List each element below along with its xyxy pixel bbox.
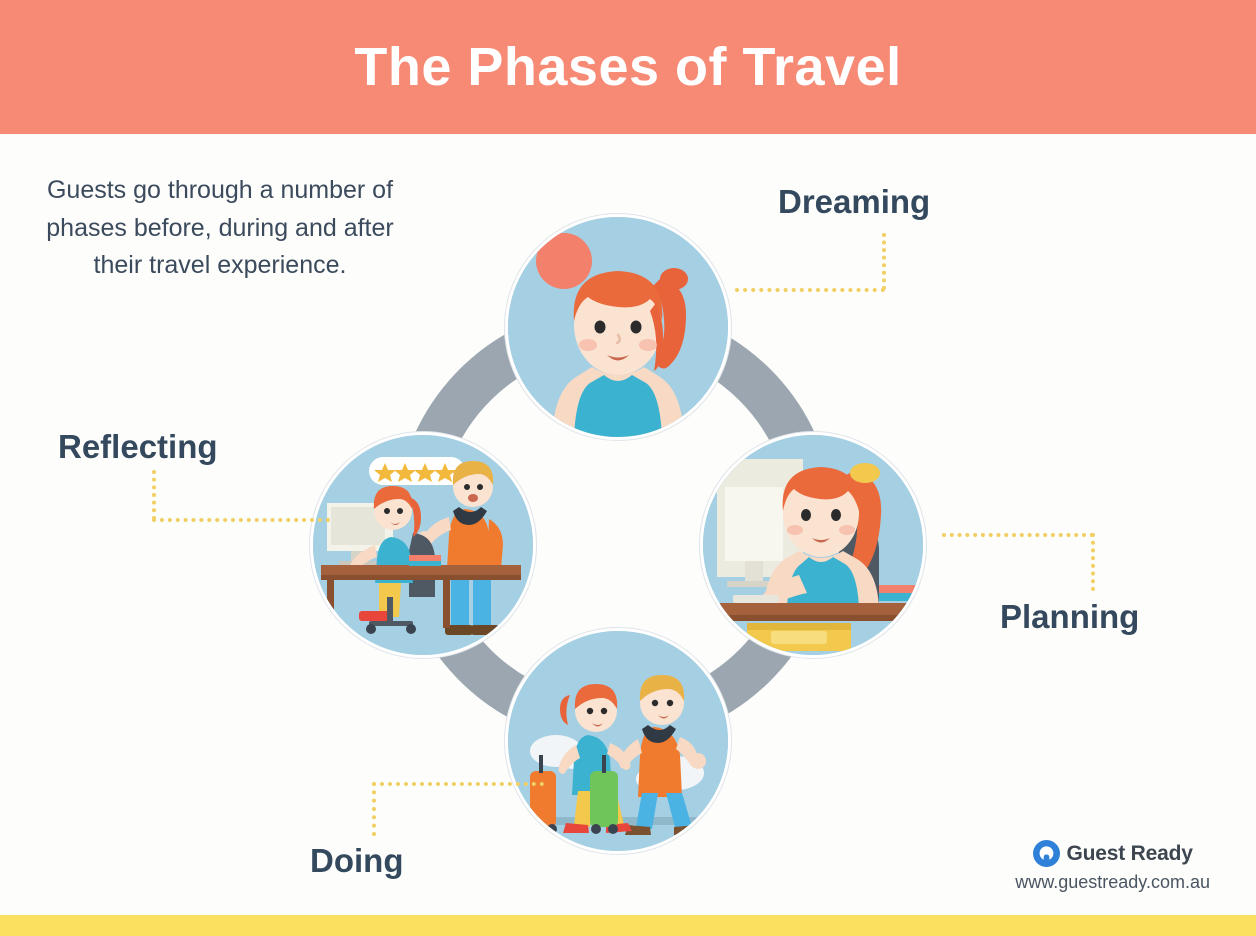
connector-doing-horizontal [372,782,544,786]
phase-label-planning: Planning [1000,598,1139,636]
connector-reflecting-vertical [152,470,156,520]
review-five-stars-icon [313,435,533,655]
phase-label-doing: Doing [310,842,403,880]
connector-dreaming-vertical [882,233,886,290]
couple-traveling-icon [508,631,728,851]
guest-ready-avatar-icon [1033,840,1060,867]
connector-planning-vertical [1091,533,1095,591]
logo-row: Guest Ready [1015,840,1210,867]
connector-planning-horizontal [942,533,1094,537]
phase-node-planning[interactable] [700,432,926,658]
header-banner: The Phases of Travel [0,0,1256,134]
phases-cycle-diagram [300,150,1000,880]
footer-logo[interactable]: Guest Ready www.guestready.com.au [1015,840,1210,893]
connector-doing-vertical [372,782,376,836]
phase-label-dreaming: Dreaming [778,183,930,221]
girl-at-computer-icon [703,435,923,655]
page-title: The Phases of Travel [0,0,1256,134]
girl-daydreaming-icon [508,217,728,437]
connector-reflecting-horizontal [152,518,330,522]
brand-url[interactable]: www.guestready.com.au [1015,872,1210,893]
phase-node-reflecting[interactable] [310,432,536,658]
connector-dreaming-horizontal [735,288,885,292]
footer-accent-bar [0,915,1256,936]
phase-label-reflecting: Reflecting [58,428,218,466]
phase-node-doing[interactable] [505,628,731,854]
brand-name: Guest Ready [1067,842,1193,866]
phase-node-dreaming[interactable] [505,214,731,440]
